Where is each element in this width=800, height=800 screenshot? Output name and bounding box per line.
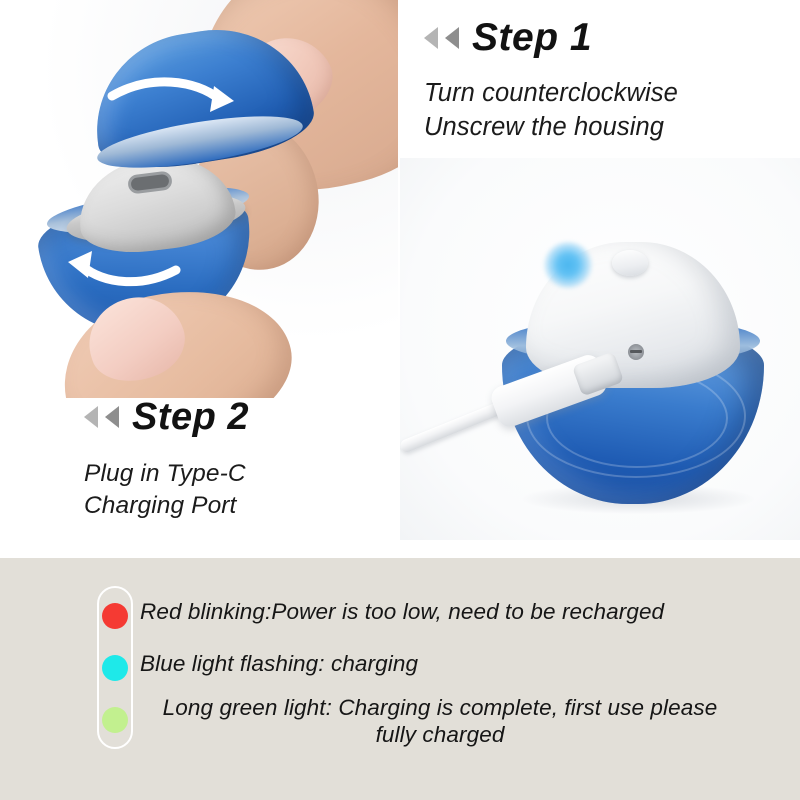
step-1-description: Turn counterclockwise Unscrew the housin… xyxy=(424,77,794,144)
rotate-arrow-lower-head xyxy=(68,251,92,278)
double-left-triangle-icon-4 xyxy=(105,406,119,428)
cyan-indicator-dot xyxy=(102,655,128,681)
step-1-heading: Step 1 xyxy=(424,18,794,57)
led-status-legend-panel: Red blinking:Power is too low, need to b… xyxy=(0,558,800,800)
legend-row: Red blinking:Power is too low, need to b… xyxy=(140,586,760,638)
legend-text-green-line-1: Long green light: Charging is complete, … xyxy=(140,694,740,721)
step-2-description: Plug in Type-C Charging Port xyxy=(84,458,414,523)
blue-led-indicator xyxy=(544,242,592,288)
step-1-photo xyxy=(0,0,398,398)
legend-text-green: Long green light: Charging is complete, … xyxy=(140,694,740,749)
legend-text-red: Red blinking:Power is too low, need to b… xyxy=(140,598,664,625)
indicator-capsule xyxy=(97,586,133,749)
legend-row-list: Red blinking:Power is too low, need to b… xyxy=(140,586,760,746)
step-2-photo xyxy=(400,158,800,540)
step-2-description-line-1: Plug in Type-C xyxy=(84,458,414,490)
legend-text-green-line-2: fully charged xyxy=(140,721,740,748)
step-1-text-block: Step 1 Turn counterclockwise Unscrew the… xyxy=(424,18,794,144)
step-1-description-line-1: Turn counterclockwise xyxy=(424,77,794,111)
step-2-description-line-2: Charging Port xyxy=(84,490,414,522)
double-left-triangle-icon xyxy=(424,27,438,49)
step-2-heading: Step 2 xyxy=(84,398,414,436)
step-2-title: Step 2 xyxy=(132,398,249,436)
step-1-description-line-2: Unscrew the housing xyxy=(424,111,794,145)
rotate-arrow-lower xyxy=(82,266,176,282)
screw-icon xyxy=(628,344,644,360)
product-instruction-page: Step 1 Turn counterclockwise Unscrew the… xyxy=(0,0,800,800)
rotate-arrow-upper xyxy=(112,82,219,99)
rotate-arrow-upper-head xyxy=(210,86,234,112)
double-left-triangle-icon-3 xyxy=(84,406,98,428)
double-left-triangle-icon-2 xyxy=(445,27,459,49)
step-1-title: Step 1 xyxy=(472,18,592,57)
red-indicator-dot xyxy=(102,603,128,629)
green-indicator-dot xyxy=(102,707,128,733)
legend-row: Blue light flashing: charging xyxy=(140,638,760,690)
dome-button xyxy=(612,250,648,276)
legend-text-blue: Blue light flashing: charging xyxy=(140,650,418,677)
legend-row: Long green light: Charging is complete, … xyxy=(140,690,760,746)
rotation-arrows-overlay xyxy=(0,0,398,398)
step-2-text-block: Step 2 Plug in Type-C Charging Port xyxy=(84,398,414,523)
